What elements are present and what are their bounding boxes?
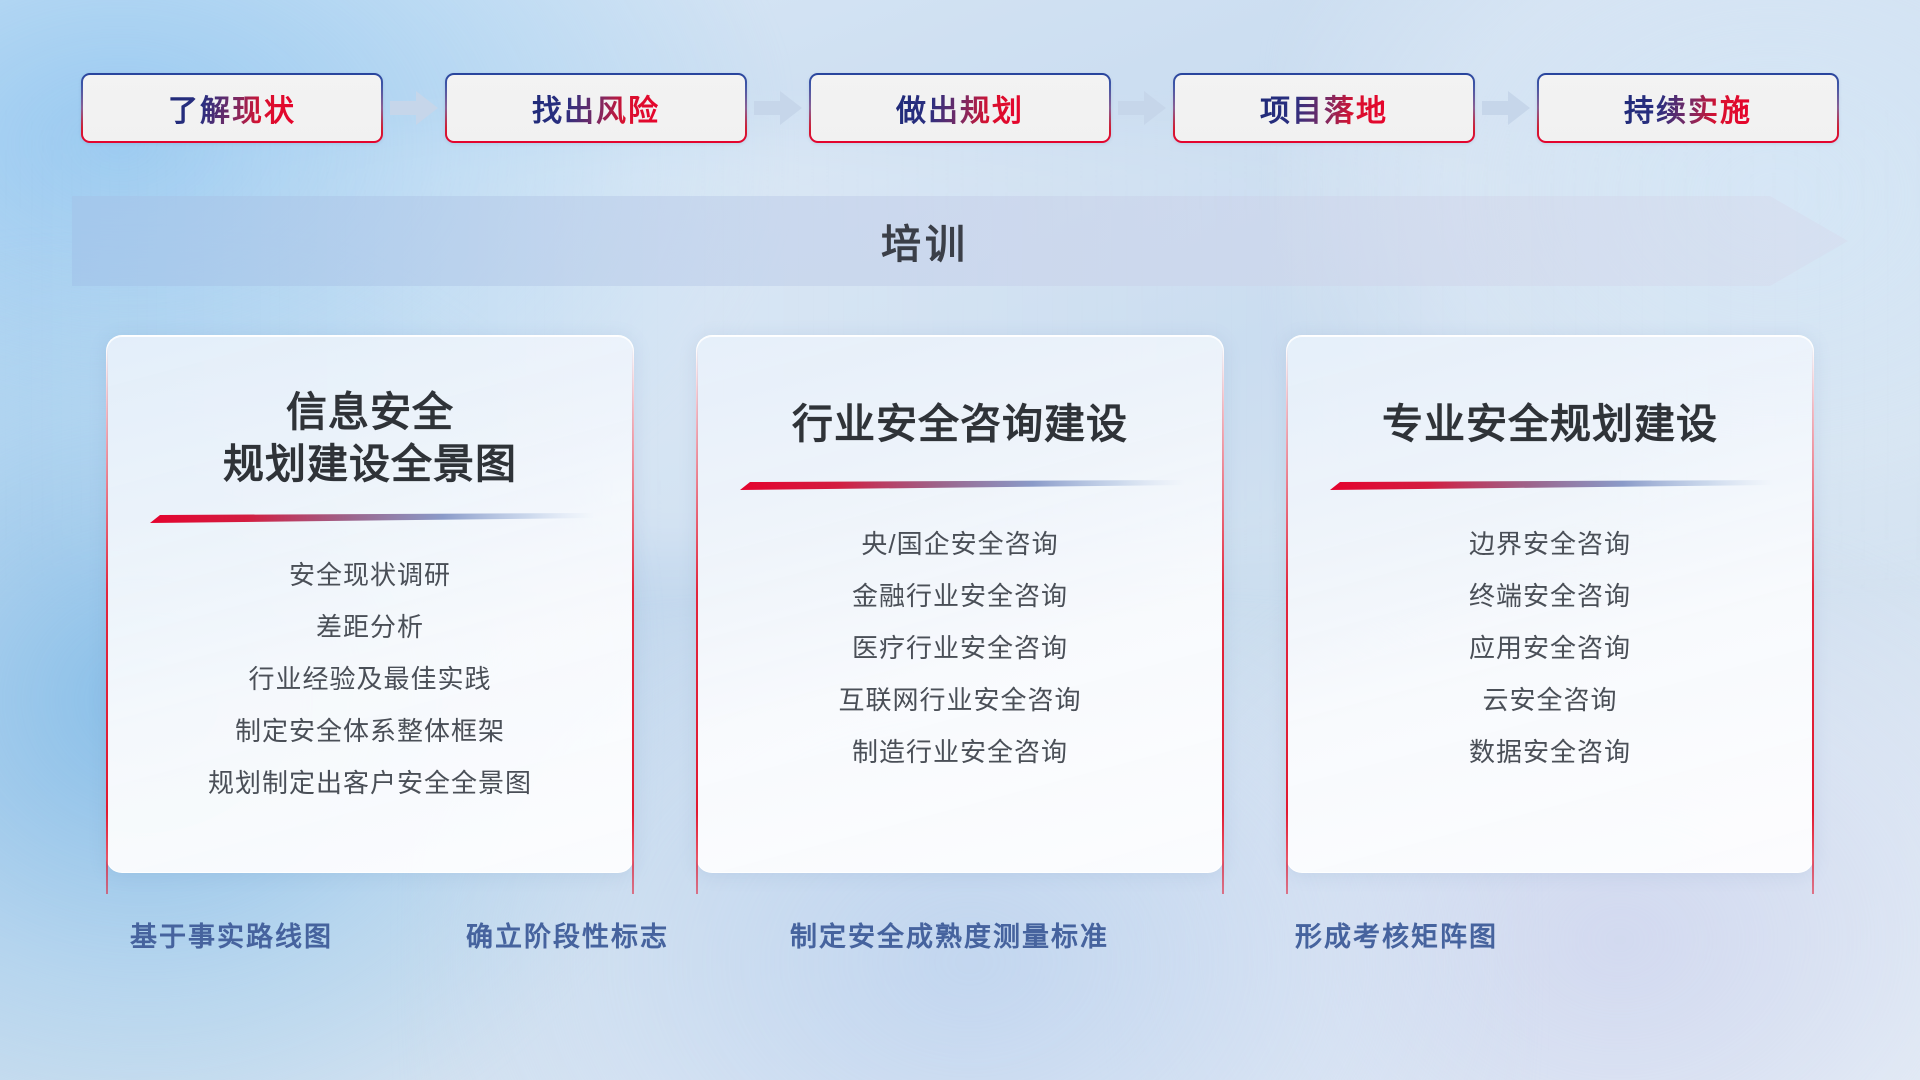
flow-step-3-label: 做出规划	[896, 86, 1024, 130]
caption-row: 基于事实路线图 确立阶段性标志 制定安全成熟度测量标准 形成考核矩阵图	[0, 915, 1920, 963]
flow-step-5[interactable]: 持续实施	[1537, 73, 1839, 143]
card-1-list: 安全现状调研 差距分析 行业经验及最佳实践 制定安全体系整体框架 规划制定出客户…	[107, 549, 633, 809]
flow-step-4-wrap: 项目落地	[1173, 73, 1475, 143]
card-2-divider-icon	[736, 480, 1184, 492]
flow-step-3-wrap: 做出规划	[809, 73, 1111, 143]
list-item: 差距分析	[316, 601, 424, 653]
card-3-divider-icon	[1326, 480, 1774, 492]
list-item: 互联网行业安全咨询	[838, 674, 1081, 726]
list-item: 安全现状调研	[289, 549, 451, 601]
flow-step-1-label: 了解现状	[168, 86, 296, 130]
flow-step-1[interactable]: 了解现状	[81, 73, 383, 143]
list-item: 应用安全咨询	[1469, 622, 1631, 674]
flow-step-2-label: 找出风险	[532, 86, 660, 130]
process-flow: 了解现状 找出风险 做出规划 项目落地	[0, 72, 1920, 144]
card-industry-security-consulting[interactable]: 行业安全咨询建设	[696, 335, 1224, 873]
banner-label: 培训	[72, 196, 1848, 286]
list-item: 制造行业安全咨询	[852, 726, 1068, 778]
list-item: 规划制定出客户安全全景图	[208, 757, 532, 809]
list-item: 央/国企安全咨询	[861, 518, 1058, 570]
flow-step-4[interactable]: 项目落地	[1173, 73, 1475, 143]
caption-assessment-matrix: 形成考核矩阵图	[1295, 915, 1498, 954]
card-1-title: 信息安全 规划建设全景图	[223, 386, 517, 491]
card-2-list: 央/国企安全咨询 金融行业安全咨询 医疗行业安全咨询 互联网行业安全咨询 制造行…	[697, 518, 1223, 778]
flow-step-2-wrap: 找出风险	[445, 73, 747, 143]
caption-roadmap: 基于事实路线图	[130, 915, 333, 954]
flow-arrow-3-icon	[1111, 88, 1173, 128]
flow-arrow-4-icon	[1475, 88, 1537, 128]
card-1-divider-icon	[146, 513, 594, 525]
flow-step-5-wrap: 持续实施	[1537, 73, 1839, 143]
card-information-security-blueprint[interactable]: 信息安全 规划建设全景图	[106, 335, 634, 873]
caption-milestones: 确立阶段性标志	[466, 915, 669, 954]
list-item: 金融行业安全咨询	[852, 570, 1068, 622]
flow-step-1-wrap: 了解现状	[81, 73, 383, 143]
flow-step-5-label: 持续实施	[1624, 86, 1752, 130]
card-professional-security-planning[interactable]: 专业安全规划建设	[1286, 335, 1814, 873]
flow-step-4-label: 项目落地	[1260, 86, 1388, 130]
list-item: 行业经验及最佳实践	[248, 653, 491, 705]
list-item: 医疗行业安全咨询	[852, 622, 1068, 674]
card-3-list: 边界安全咨询 终端安全咨询 应用安全咨询 云安全咨询 数据安全咨询	[1287, 518, 1813, 778]
list-item: 制定安全体系整体框架	[235, 705, 505, 757]
card-group: 信息安全 规划建设全景图	[0, 335, 1920, 875]
card-2-title: 行业安全咨询建设	[792, 398, 1128, 450]
flow-arrow-1-icon	[383, 88, 445, 128]
training-banner: 培训	[72, 196, 1848, 286]
flow-step-3[interactable]: 做出规划	[809, 73, 1111, 143]
list-item: 云安全咨询	[1482, 674, 1617, 726]
list-item: 数据安全咨询	[1469, 726, 1631, 778]
list-item: 终端安全咨询	[1469, 570, 1631, 622]
flow-step-2[interactable]: 找出风险	[445, 73, 747, 143]
card-3-title: 专业安全规划建设	[1382, 398, 1718, 450]
caption-maturity-standard: 制定安全成熟度测量标准	[790, 915, 1109, 954]
list-item: 边界安全咨询	[1469, 518, 1631, 570]
flow-arrow-2-icon	[747, 88, 809, 128]
